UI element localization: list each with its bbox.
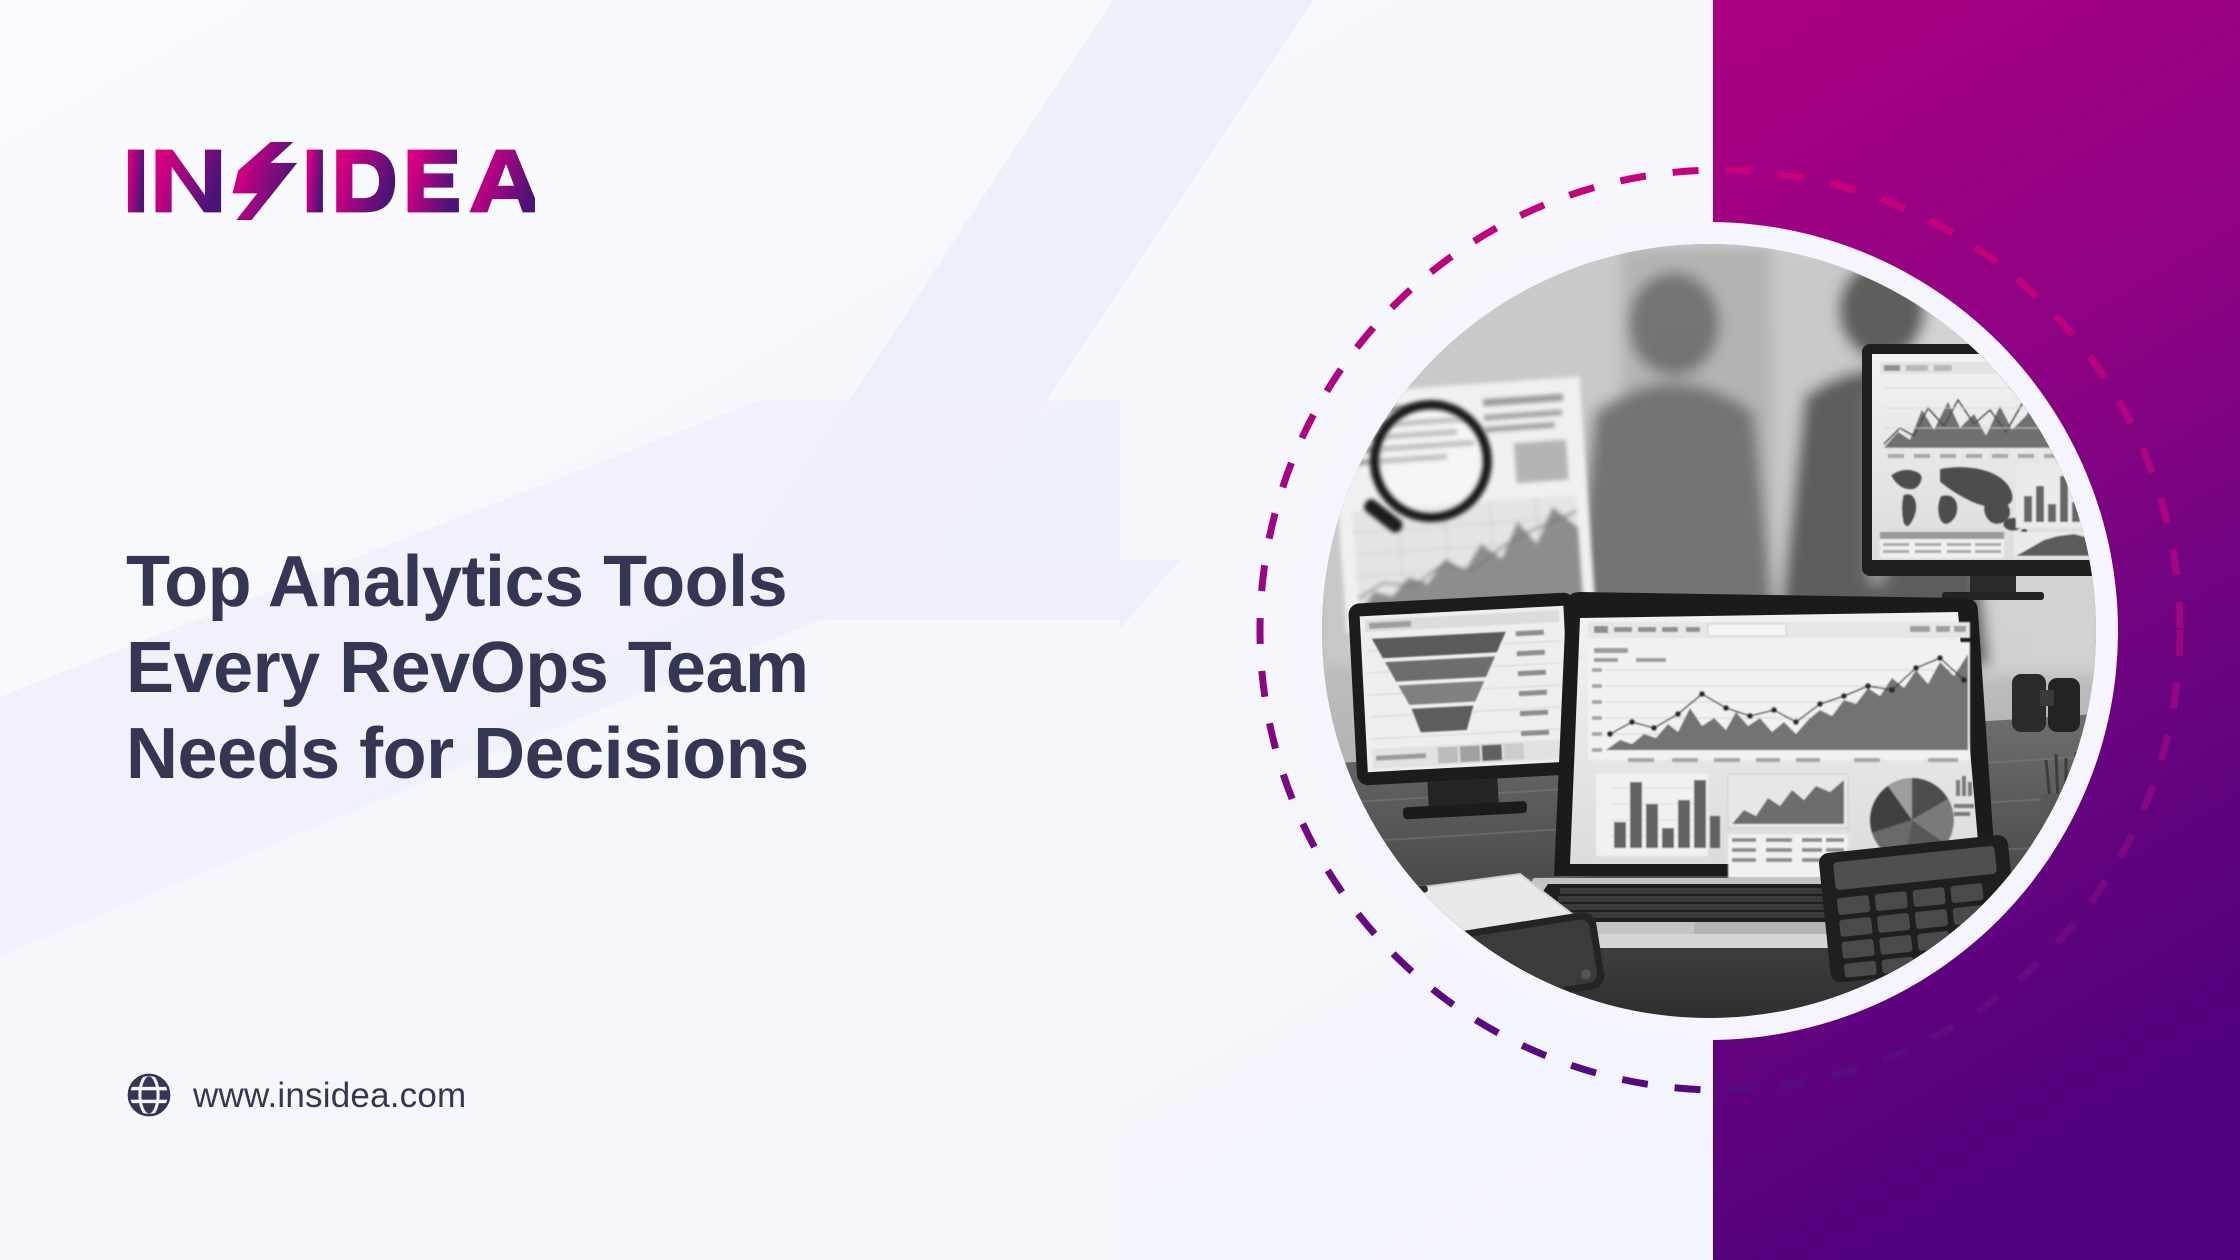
blog-banner: Top Analytics Tools Every RevOps Team Ne…	[0, 0, 2240, 1260]
lightning-bolt-s-icon	[233, 142, 298, 220]
logo-wordmark	[128, 142, 535, 220]
hero-image-circle	[1300, 222, 2118, 1040]
analytics-workspace-photo	[1322, 244, 2096, 1018]
page-title: Top Analytics Tools Every RevOps Team Ne…	[126, 540, 1106, 797]
footer-website[interactable]: www.insidea.com	[126, 1072, 466, 1118]
website-url[interactable]: www.insidea.com	[193, 1078, 466, 1113]
insidea-logo[interactable]	[126, 142, 535, 220]
globe-icon	[126, 1072, 172, 1118]
